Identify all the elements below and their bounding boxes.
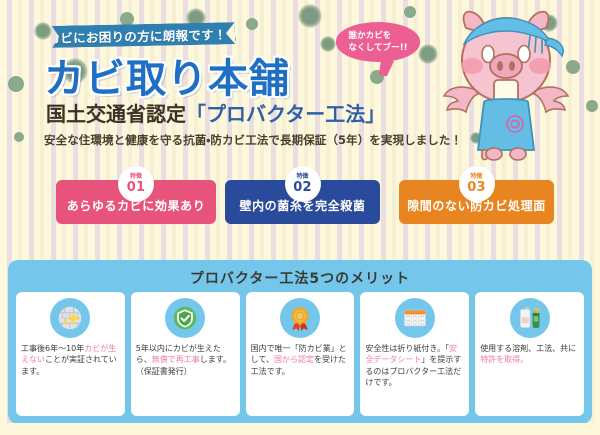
merit-card-text: 工事後6年〜10年カビが生えないことが実証されています。 — [21, 343, 120, 377]
merit-highlight-text: 無償で再工事 — [152, 355, 200, 364]
mold-spot-icon — [586, 100, 598, 112]
tagline: 安全な住環境と健康を守る抗菌・防カビ工法で長期保証（5年）を実現しました！ — [44, 132, 462, 148]
merit-card-text: 使用する溶剤、工法、共に特許を取得。 — [480, 343, 579, 366]
mold-spot-icon — [120, 12, 134, 26]
merit-plain-text: 使用する溶剤、工法、共に — [480, 344, 576, 353]
merit-plain-text: 安全性は折り紙付き。「 — [365, 344, 449, 353]
merit-plain-text: 工事後6年〜10年 — [21, 344, 84, 353]
merit-card-text: 5年以内にカビが生えたら、無償で再工事します。（保証書発行） — [136, 343, 235, 377]
feature-badge-number-01: 01 — [127, 181, 146, 194]
merits-title: プロバクター工法5つのメリット — [8, 268, 592, 288]
mold-spot-icon — [404, 6, 416, 18]
feature-badge-02: 特徴 02 — [285, 166, 321, 202]
spray-bottle-icon — [510, 298, 550, 338]
pig-mascot-icon — [432, 4, 580, 164]
mold-spot-icon — [14, 132, 24, 142]
feature-box-01[interactable]: 特徴 01 あらゆるカビに効果あり — [56, 180, 216, 224]
merit-highlight-text: 特許を取得。 — [480, 355, 528, 364]
merit-card[interactable]: 国内で唯一「防カビ業」として、国から認定を受けた工法です。 — [246, 292, 355, 416]
merit-card[interactable]: 5年以内にカビが生えたら、無償で再工事します。（保証書発行） — [131, 292, 240, 416]
merit-card[interactable]: 工事後6年〜10年カビが生えないことが実証されています。 — [16, 292, 125, 416]
brick-wall-sparkle-icon — [50, 298, 90, 338]
mold-spot-icon — [34, 22, 52, 40]
speech-bubble: 誰かカビを なくしてブー!! — [336, 22, 420, 62]
merit-card[interactable]: 使用する溶剤、工法、共に特許を取得。 — [475, 292, 584, 416]
subtitle: 国土交通省認定「プロバクター工法」 — [46, 98, 385, 127]
promo-ribbon: カビにお困りの方に朗報です！！ — [52, 22, 235, 48]
feature-badge-03: 特徴 03 — [459, 166, 495, 202]
speech-bubble-line1: 誰かカビを — [348, 30, 407, 42]
mold-spot-icon — [246, 18, 258, 30]
feature-box-03[interactable]: 特徴 03 隙間のない防カビ処理面 — [399, 180, 554, 224]
promo-ribbon-text: カビにお困りの方に朗報です！！ — [47, 23, 239, 46]
page-title: カビ取り本舗 — [44, 46, 290, 104]
award-ribbon-icon — [280, 298, 320, 338]
feature-box-02[interactable]: 特徴 02 壁内の菌糸を完全殺菌 — [225, 180, 380, 224]
subtitle-certification: 国土交通省認定 — [46, 102, 186, 126]
feature-badge-number-03: 03 — [467, 181, 486, 194]
mold-spot-icon — [320, 36, 336, 52]
merit-card[interactable]: 安全性は折り紙付き。「安全データシート」を提示するのはプロバクター工法だけです。 — [360, 292, 469, 416]
mold-spot-icon — [8, 76, 24, 92]
feature-box-list: 特徴 01 あらゆるカビに効果あり 特徴 02 壁内の菌糸を完全殺菌 特徴 03… — [0, 166, 600, 236]
merit-card-text: 安全性は折り紙付き。「安全データシート」を提示するのはプロバクター工法だけです。 — [365, 343, 464, 388]
page-root: カビにお困りの方に朗報です！！ カビ取り本舗 国土交通省認定「プロバクター工法」… — [0, 0, 600, 435]
data-sheet-icon — [395, 298, 435, 338]
merit-card-list: 工事後6年〜10年カビが生えないことが実証されています。5年以内にカビが生えたら… — [16, 292, 584, 416]
merit-highlight-text: 国から認定 — [274, 355, 314, 364]
feature-badge-01: 特徴 01 — [118, 166, 154, 202]
shield-check-icon — [165, 298, 205, 338]
subtitle-method-name: 「プロバクター工法」 — [186, 102, 385, 126]
speech-bubble-line2: なくしてブー!! — [348, 42, 407, 54]
merits-panel: プロバクター工法5つのメリット 工事後6年〜10年カビが生えないことが実証されて… — [8, 260, 592, 424]
footer-strip — [0, 423, 600, 435]
feature-badge-number-02: 02 — [293, 181, 312, 194]
speech-bubble-text: 誰かカビを なくしてブー!! — [348, 30, 407, 55]
merit-card-text: 国内で唯一「防カビ業」として、国から認定を受けた工法です。 — [251, 343, 350, 377]
mold-spot-icon — [298, 4, 322, 28]
